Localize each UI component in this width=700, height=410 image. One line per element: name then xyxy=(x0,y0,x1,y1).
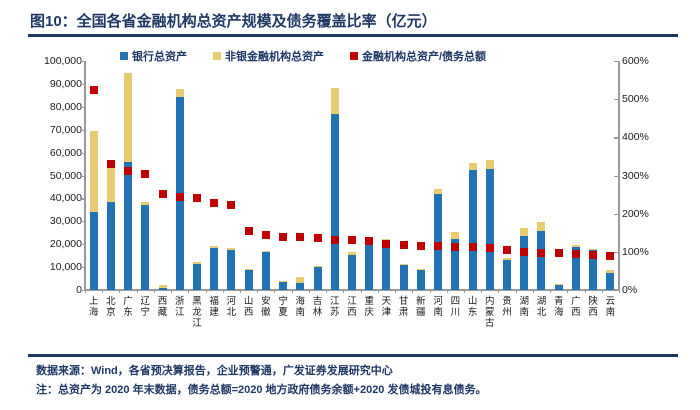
x-axis-label: 青海 xyxy=(552,296,566,318)
ratio-marker[interactable] xyxy=(262,231,270,239)
x-axis-tick xyxy=(378,289,379,293)
x-axis-tick xyxy=(154,289,155,293)
x-axis-label: 广东 xyxy=(121,296,135,318)
x-axis-tick xyxy=(188,289,189,293)
x-axis-tick xyxy=(206,289,207,293)
x-axis-label: 上海 xyxy=(87,296,101,318)
bar-segment-nonbank xyxy=(520,228,528,236)
plot-area: 010,00020,00030,00040,00050,00060,00070,… xyxy=(0,55,700,300)
bar-segment-bank xyxy=(537,231,545,290)
x-axis-label: 内蒙古 xyxy=(483,296,497,329)
x-axis-label: 江苏 xyxy=(328,296,342,318)
x-axis-tick xyxy=(240,289,241,293)
y-axis-left: 010,00020,00030,00040,00050,00060,00070,… xyxy=(26,55,82,300)
bar-segment-bank xyxy=(400,264,408,290)
x-axis-tick xyxy=(257,289,258,293)
y-axis-left-tick-label: 10,000 xyxy=(50,262,82,272)
y-axis-left-tick-label: 80,000 xyxy=(50,102,82,112)
ratio-marker[interactable] xyxy=(365,237,373,245)
bar-column[interactable] xyxy=(279,61,287,290)
bar-column[interactable] xyxy=(124,61,132,290)
ratio-marker[interactable] xyxy=(193,194,201,202)
ratio-marker[interactable] xyxy=(245,227,253,235)
y-axis-left-tick-label: 30,000 xyxy=(50,216,82,226)
ratio-marker[interactable] xyxy=(417,242,425,250)
chart-figure: 图10：全国各省金融机构总资产规模及债务覆盖比率（亿元） 银行总资产非银金融机构… xyxy=(0,0,700,410)
x-axis-label: 海南 xyxy=(293,296,307,318)
x-axis-label: 北京 xyxy=(104,296,118,318)
y-axis-left-tick-label: 50,000 xyxy=(50,171,82,181)
bar-segment-nonbank xyxy=(417,269,425,270)
ratio-marker[interactable] xyxy=(469,243,477,251)
bar-column[interactable] xyxy=(400,61,408,290)
bar-segment-nonbank xyxy=(159,285,167,288)
x-axis-tick xyxy=(292,289,293,293)
bar-column[interactable] xyxy=(382,61,390,290)
y-axis-right-tick-label: 500% xyxy=(622,94,649,104)
ratio-marker[interactable] xyxy=(382,240,390,248)
y-axis-left-tick-label: 70,000 xyxy=(50,125,82,135)
ratio-marker[interactable] xyxy=(141,170,149,178)
bar-segment-bank xyxy=(159,288,167,290)
ratio-marker[interactable] xyxy=(606,252,614,260)
ratio-marker[interactable] xyxy=(555,249,563,257)
y-axis-left-tick xyxy=(80,221,84,222)
x-axis-label: 河北 xyxy=(224,296,238,318)
bar-segment-nonbank xyxy=(279,281,287,282)
x-axis-label: 重庆 xyxy=(362,296,376,318)
x-axis-label: 陕西 xyxy=(586,296,600,318)
x-axis-label: 甘肃 xyxy=(397,296,411,318)
y-axis-left-tick xyxy=(80,107,84,108)
x-axis-tick xyxy=(602,289,603,293)
y-axis-left-tick xyxy=(80,153,84,154)
x-axis-label: 辽宁 xyxy=(138,296,152,318)
ratio-marker[interactable] xyxy=(520,248,528,256)
bar-segment-bank xyxy=(90,212,98,290)
bar-segment-nonbank xyxy=(210,246,218,247)
bar-column[interactable] xyxy=(451,61,459,290)
bar-segment-bank xyxy=(296,283,304,290)
bar-column[interactable] xyxy=(486,61,494,290)
x-axis-tick xyxy=(343,289,344,293)
y-axis-right-tick xyxy=(614,214,618,215)
x-axis-tick xyxy=(430,289,431,293)
bars-container xyxy=(85,61,619,290)
ratio-marker[interactable] xyxy=(90,86,98,94)
ratio-marker[interactable] xyxy=(124,167,132,175)
bar-column[interactable] xyxy=(245,61,253,290)
ratio-marker[interactable] xyxy=(314,234,322,242)
x-axis-label: 云南 xyxy=(603,296,617,318)
bar-segment-bank xyxy=(520,236,528,290)
x-axis-tick xyxy=(567,289,568,293)
bar-segment-bank xyxy=(503,260,511,290)
x-axis-tick xyxy=(447,289,448,293)
page-title: 图10：全国各省金融机构总资产规模及债务覆盖比率（亿元） xyxy=(30,10,437,31)
bar-segment-nonbank xyxy=(606,270,614,273)
bar-segment-nonbank xyxy=(296,277,304,283)
bar-column[interactable] xyxy=(314,61,322,290)
x-axis-label: 黑龙江 xyxy=(190,296,204,329)
y-axis-left-tick xyxy=(80,198,84,199)
ratio-marker[interactable] xyxy=(210,199,218,207)
bar-segment-bank xyxy=(279,282,287,290)
bar-segment-nonbank xyxy=(434,189,442,194)
x-axis-label: 河南 xyxy=(431,296,445,318)
y-axis-left-tick-label: 60,000 xyxy=(50,148,82,158)
bar-segment-bank xyxy=(382,246,390,290)
title-divider xyxy=(28,34,678,37)
y-axis-left-tick xyxy=(80,130,84,131)
bar-segment-nonbank xyxy=(314,266,322,267)
x-axis-label: 福建 xyxy=(207,296,221,318)
x-axis-label: 四川 xyxy=(448,296,462,318)
bar-segment-nonbank xyxy=(141,202,149,205)
bar-column[interactable] xyxy=(296,61,304,290)
bar-segment-bank xyxy=(331,114,339,290)
bar-segment-nonbank xyxy=(537,222,545,232)
bar-segment-bank xyxy=(365,243,373,290)
x-axis-label: 安徽 xyxy=(259,296,273,318)
y-axis-right-tick-label: 400% xyxy=(622,132,649,142)
x-axis-tick xyxy=(223,289,224,293)
x-axis-label: 浙江 xyxy=(173,296,187,318)
bar-segment-bank xyxy=(245,270,253,290)
y-axis-right: 0%100%200%300%400%500%600% xyxy=(622,55,678,300)
bar-column[interactable] xyxy=(227,61,235,290)
bar-segment-bank xyxy=(348,255,356,290)
bar-segment-nonbank xyxy=(331,88,339,114)
bar-segment-bank xyxy=(606,273,614,290)
ratio-marker[interactable] xyxy=(537,249,545,257)
bar-segment-bank xyxy=(262,252,270,290)
ratio-marker[interactable] xyxy=(400,241,408,249)
bar-segment-nonbank xyxy=(227,248,235,250)
ratio-marker[interactable] xyxy=(503,246,511,254)
x-axis-tick xyxy=(550,289,551,293)
ratio-marker[interactable] xyxy=(159,190,167,198)
y-axis-left-tick xyxy=(80,176,84,177)
x-axis-label: 吉林 xyxy=(311,296,325,318)
ratio-marker[interactable] xyxy=(348,236,356,244)
bar-segment-nonbank xyxy=(193,262,201,264)
y-axis-right-tick xyxy=(614,61,618,62)
bar-segment-nonbank xyxy=(469,163,477,170)
x-axis-tick xyxy=(171,289,172,293)
x-axis-label: 江西 xyxy=(345,296,359,318)
y-axis-left-tick xyxy=(80,61,84,62)
bar-segment-bank xyxy=(555,285,563,290)
x-axis-labels: 上海北京广东辽宁西藏浙江黑龙江福建河北山西安徽宁夏海南吉林江苏江西重庆天津甘肃新… xyxy=(85,296,619,346)
y-axis-right-tick-label: 0% xyxy=(622,285,637,295)
ratio-marker[interactable] xyxy=(107,160,115,168)
x-axis-tick xyxy=(464,289,465,293)
x-axis-tick xyxy=(102,289,103,293)
bar-column[interactable] xyxy=(434,61,442,290)
bar-segment-nonbank xyxy=(176,89,184,98)
bar-column[interactable] xyxy=(331,61,339,290)
x-axis-tick xyxy=(137,289,138,293)
bar-column[interactable] xyxy=(503,61,511,290)
x-axis-label: 西藏 xyxy=(156,296,170,318)
bar-column[interactable] xyxy=(107,61,115,290)
x-axis-label: 天津 xyxy=(379,296,393,318)
x-axis-label: 宁夏 xyxy=(276,296,290,318)
y-axis-left-tick xyxy=(80,267,84,268)
y-axis-right-tick-label: 600% xyxy=(622,56,649,66)
bar-segment-bank xyxy=(417,270,425,290)
y-axis-right-tick xyxy=(614,252,618,253)
note-line: 注：总资产为 2020 年末数据，债务总额=2020 地方政府债务余额+2020… xyxy=(36,381,676,400)
bar-segment-bank xyxy=(193,264,201,290)
bar-segment-bank xyxy=(227,250,235,290)
x-axis-label: 山东 xyxy=(466,296,480,318)
x-axis-tick xyxy=(326,289,327,293)
x-axis-tick xyxy=(533,289,534,293)
x-axis-label: 新疆 xyxy=(414,296,428,318)
ratio-marker[interactable] xyxy=(279,233,287,241)
ratio-marker[interactable] xyxy=(589,251,597,259)
x-axis-tick xyxy=(585,289,586,293)
y-axis-left-tick-label: 40,000 xyxy=(50,193,82,203)
bar-segment-bank xyxy=(107,202,115,290)
bar-column[interactable] xyxy=(159,61,167,290)
bar-column[interactable] xyxy=(176,61,184,290)
ratio-marker[interactable] xyxy=(176,193,184,201)
bar-segment-bank xyxy=(141,205,149,290)
bar-column[interactable] xyxy=(469,61,477,290)
y-axis-left-tick xyxy=(80,244,84,245)
bar-column[interactable] xyxy=(348,61,356,290)
ratio-marker[interactable] xyxy=(486,244,494,252)
bar-segment-bank xyxy=(210,248,218,290)
x-axis-label: 湖北 xyxy=(534,296,548,318)
x-axis-tick xyxy=(412,289,413,293)
x-axis-tick xyxy=(85,289,86,293)
bar-segment-bank xyxy=(486,169,494,290)
bar-column[interactable] xyxy=(210,61,218,290)
y-axis-right-tick xyxy=(614,290,618,291)
y-axis-right-tick-label: 100% xyxy=(622,247,649,257)
x-axis-label: 山西 xyxy=(242,296,256,318)
bar-column[interactable] xyxy=(262,61,270,290)
x-axis-tick xyxy=(309,289,310,293)
y-axis-left-tick xyxy=(80,84,84,85)
x-axis-label: 湖南 xyxy=(517,296,531,318)
y-axis-right-tick-label: 200% xyxy=(622,209,649,219)
bar-segment-bank xyxy=(314,266,322,290)
source-line: 数据来源：Wind，各省预决算报告，企业预警通，广发证券发展研究中心 xyxy=(36,362,676,381)
figure-footer: 数据来源：Wind，各省预决算报告，企业预警通，广发证券发展研究中心 注：总资产… xyxy=(36,362,676,400)
bar-segment-nonbank xyxy=(262,251,270,252)
ratio-marker[interactable] xyxy=(227,201,235,209)
bar-segment-nonbank xyxy=(348,252,356,255)
ratio-marker[interactable] xyxy=(331,236,339,244)
bar-column[interactable] xyxy=(90,61,98,290)
y-axis-left-tick xyxy=(80,290,84,291)
bar-segment-bank xyxy=(124,162,132,290)
bar-segment-nonbank xyxy=(124,73,132,161)
bar-segment-nonbank xyxy=(90,131,98,211)
x-axis-tick xyxy=(274,289,275,293)
x-axis-tick xyxy=(481,289,482,293)
bar-column[interactable] xyxy=(365,61,373,290)
y-axis-right-tick xyxy=(614,137,618,138)
footer-divider xyxy=(28,354,678,357)
x-axis-label: 贵州 xyxy=(500,296,514,318)
x-axis-tick xyxy=(498,289,499,293)
ratio-marker[interactable] xyxy=(451,243,459,251)
y-axis-left-tick-label: 20,000 xyxy=(50,239,82,249)
bar-segment-nonbank xyxy=(486,160,494,169)
y-axis-left-tick-label: 90,000 xyxy=(50,79,82,89)
x-axis-label: 广西 xyxy=(569,296,583,318)
y-axis-right-tick xyxy=(614,176,618,177)
bar-segment-nonbank xyxy=(572,245,580,247)
x-axis-tick xyxy=(619,289,620,293)
ratio-marker[interactable] xyxy=(434,242,442,250)
y-axis-right-tick xyxy=(614,99,618,100)
x-axis-tick xyxy=(516,289,517,293)
bar-segment-bank xyxy=(469,170,477,290)
y-axis-left-tick-label: 100,000 xyxy=(44,56,82,66)
bar-column[interactable] xyxy=(193,61,201,290)
bar-segment-nonbank xyxy=(451,232,459,240)
x-axis-tick xyxy=(119,289,120,293)
x-axis-tick xyxy=(361,289,362,293)
ratio-marker[interactable] xyxy=(296,233,304,241)
bar-segment-nonbank xyxy=(503,258,511,259)
ratio-marker[interactable] xyxy=(572,250,580,258)
x-axis-tick xyxy=(395,289,396,293)
bar-column[interactable] xyxy=(417,61,425,290)
figure-title-bar: 图10：全国各省金融机构总资产规模及债务覆盖比率（亿元） xyxy=(30,6,678,34)
bar-segment-nonbank xyxy=(245,269,253,270)
y-axis-right-tick-label: 300% xyxy=(622,171,649,181)
